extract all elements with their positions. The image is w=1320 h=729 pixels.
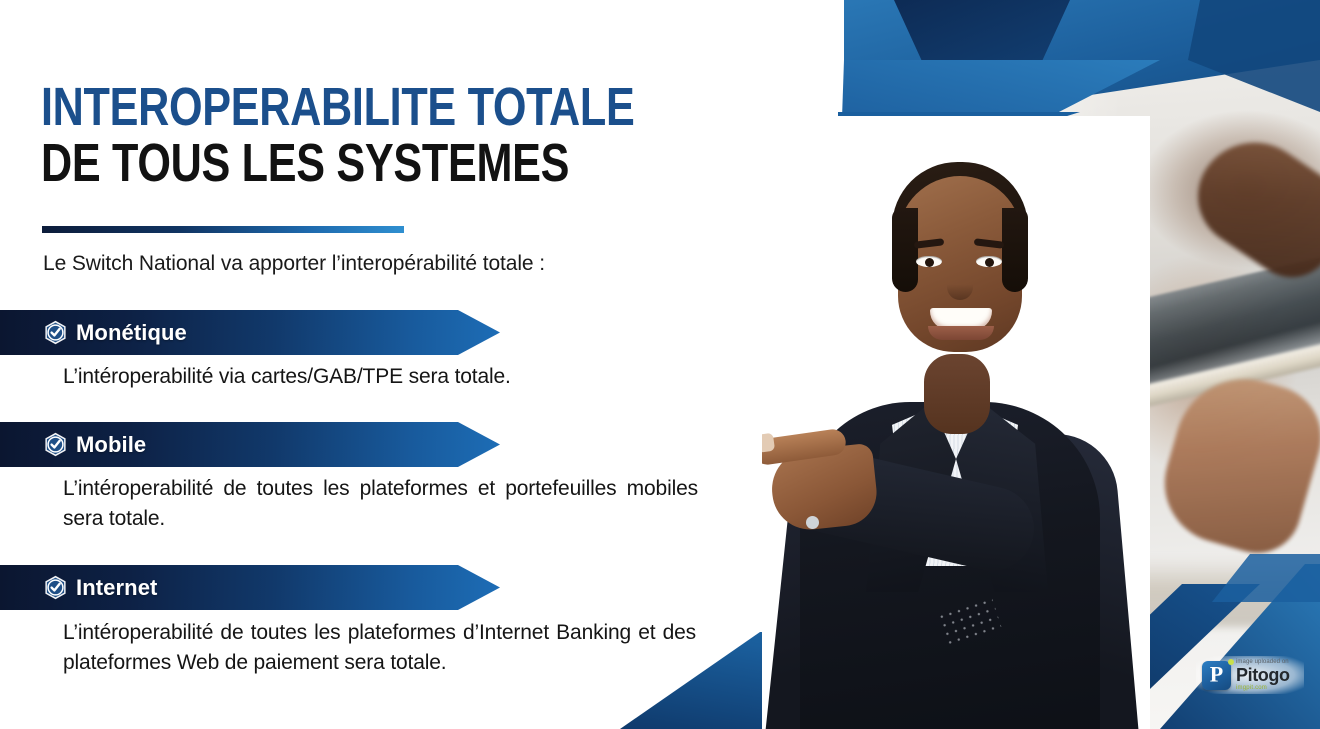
section-banner-monetique[interactable]: Monétique [0,310,500,355]
pitogo-text-block: image uploaded on Pitogo imgpit.com [1236,659,1290,691]
check-badge-icon [44,575,67,600]
section-banner-mobile[interactable]: Mobile [0,422,500,467]
check-badge-icon [44,432,67,457]
slide-title: INTEROPERABILITE TOTALE DE TOUS LES SYST… [41,82,701,190]
pitogo-watermark: P image uploaded on Pitogo imgpit.com [1196,656,1304,694]
pitogo-name: Pitogo [1236,666,1290,684]
pitogo-glyph: P [1202,664,1231,686]
section-label-internet: Internet [76,575,157,601]
section-label-monetique: Monétique [76,320,187,346]
section-body-mobile: L’intéroperabilité de toutes les platefo… [63,474,698,534]
businesswoman-photo-panel [762,116,1150,729]
section-label-mobile: Mobile [76,432,146,458]
section-body-internet: L’intéroperabilité de toutes les platefo… [63,618,696,678]
title-line-1: INTEROPERABILITE TOTALE [41,82,569,134]
section-body-monetique: L’intéroperabilité via cartes/GAB/TPE se… [63,362,703,392]
title-line-2: DE TOUS LES SYSTEMES [41,138,569,190]
pitogo-sub-text: imgpit.com [1236,685,1290,691]
intro-text: Le Switch National va apporter l’interop… [43,252,545,276]
slide-content: INTEROPERABILITE TOTALE DE TOUS LES SYST… [0,0,770,729]
businesswoman-figure [762,116,1150,729]
title-underline-rule [42,226,404,233]
check-badge-icon [44,320,67,345]
presentation-slide: INTEROPERABILITE TOTALE DE TOUS LES SYST… [0,0,1320,729]
pitogo-accent-dot [1228,659,1234,665]
pitogo-logo-icon: P [1202,661,1231,690]
section-banner-internet[interactable]: Internet [0,565,500,610]
